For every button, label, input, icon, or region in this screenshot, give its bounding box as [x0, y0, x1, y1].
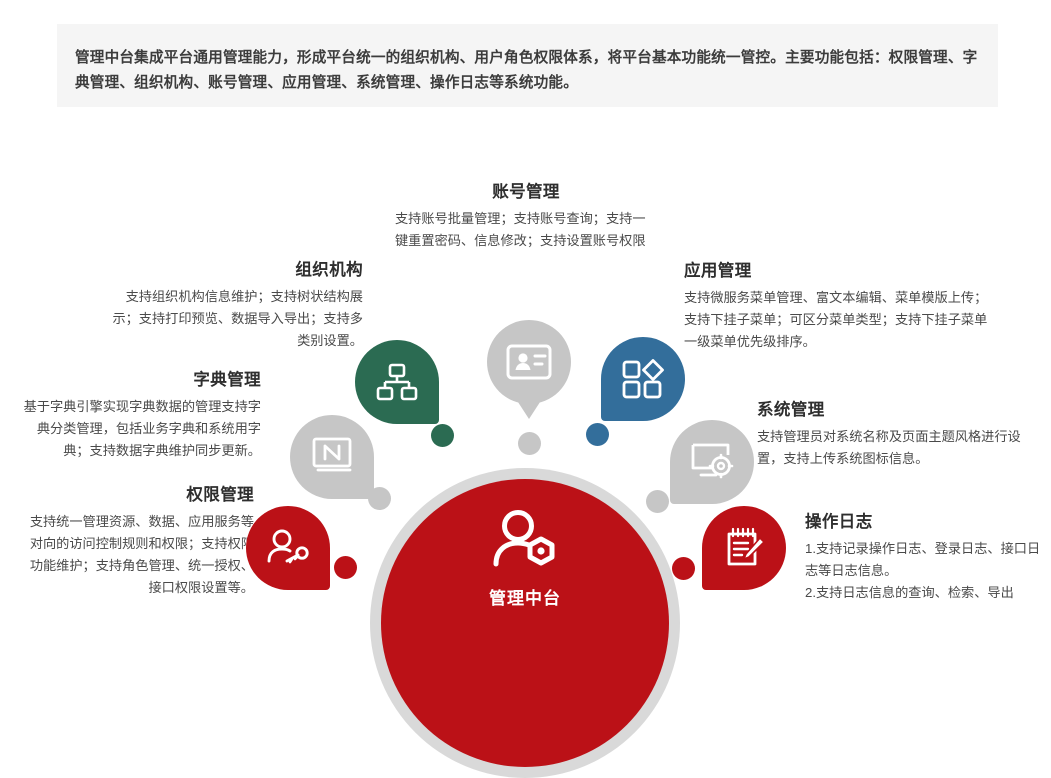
pin-system[interactable]	[670, 420, 754, 504]
pin-org-dot	[431, 424, 454, 447]
feature-block-account: 账号管理 支持账号批量管理；支持账号查询；支持一键重置密码、信息修改；支持设置账…	[395, 178, 657, 252]
feature-title-app: 应用管理	[684, 257, 1000, 281]
pin-log-dot	[672, 557, 695, 580]
feature-title-dict: 字典管理	[18, 366, 261, 390]
feature-block-app: 应用管理 支持微服务菜单管理、富文本编辑、菜单模版上传；支持下挂子菜单；可区分菜…	[684, 257, 1000, 353]
org-chart-icon	[376, 363, 418, 401]
pin-account-tail	[516, 399, 542, 419]
feature-block-system: 系统管理 支持管理员对系统名称及页面主题风格进行设置，支持上传系统图标信息。	[757, 396, 1043, 470]
pin-account[interactable]	[487, 320, 571, 404]
feature-title-org: 组织机构	[112, 256, 363, 280]
pin-dict-dot	[368, 487, 391, 510]
feature-block-log: 操作日志 1.支持记录操作日志、登录日志、接口日志等日志信息。 2.支持日志信息…	[805, 508, 1047, 604]
feature-body-org: 支持组织机构信息维护；支持树状结构展示；支持打印预览、数据导入导出；支持多类别设…	[112, 286, 363, 352]
intro-banner-text: 管理中台集成平台通用管理能力，形成平台统一的组织机构、用户角色权限体系，将平台基…	[75, 46, 980, 96]
feature-body-log: 1.支持记录操作日志、登录日志、接口日志等日志信息。 2.支持日志信息的查询、检…	[805, 538, 1047, 604]
feature-block-dict: 字典管理 基于字典引擎实现字典数据的管理支持字典分类管理，包括业务字典和系统用字…	[18, 366, 261, 462]
pin-app-dot	[586, 423, 609, 446]
pin-permission[interactable]	[246, 506, 330, 590]
feature-title-system: 系统管理	[757, 396, 1043, 420]
feature-block-perm: 权限管理 支持统一管理资源、数据、应用服务等对向的访问控制规则和权限；支持权限功…	[18, 481, 254, 599]
hub-semicircle	[381, 479, 669, 767]
feature-block-org: 组织机构 支持组织机构信息维护；支持树状结构展示；支持打印预览、数据导入导出；支…	[112, 256, 363, 352]
pin-dict[interactable]	[290, 415, 374, 499]
pin-app[interactable]	[601, 337, 685, 421]
id-card-icon	[506, 344, 552, 380]
pin-org[interactable]	[355, 340, 439, 424]
pin-log[interactable]	[702, 506, 786, 590]
feature-body-account: 支持账号批量管理；支持账号查询；支持一键重置密码、信息修改；支持设置账号权限	[395, 208, 657, 252]
pin-permission-dot	[334, 556, 357, 579]
apps-grid-icon	[622, 359, 664, 399]
dictionary-book-icon	[311, 437, 353, 477]
feature-title-perm: 权限管理	[18, 481, 254, 505]
pin-system-dot	[646, 490, 669, 513]
pin-account-dot	[518, 432, 541, 455]
intro-banner: 管理中台集成平台通用管理能力，形成平台统一的组织机构、用户角色权限体系，将平台基…	[57, 24, 998, 107]
feature-body-dict: 基于字典引擎实现字典数据的管理支持字典分类管理，包括业务字典和系统用字典；支持数…	[18, 396, 261, 462]
monitor-gear-icon	[690, 442, 734, 482]
feature-title-account: 账号管理	[395, 178, 657, 202]
feature-body-app: 支持微服务菜单管理、富文本编辑、菜单模版上传；支持下挂子菜单；可区分菜单类型；支…	[684, 287, 1000, 353]
feature-body-system: 支持管理员对系统名称及页面主题风格进行设置，支持上传系统图标信息。	[757, 426, 1043, 470]
notepad-pencil-icon	[722, 526, 766, 570]
feature-title-log: 操作日志	[805, 508, 1047, 532]
feature-body-perm: 支持统一管理资源、数据、应用服务等对向的访问控制规则和权限；支持权限功能维护；支…	[18, 511, 254, 599]
user-key-icon	[265, 528, 311, 568]
